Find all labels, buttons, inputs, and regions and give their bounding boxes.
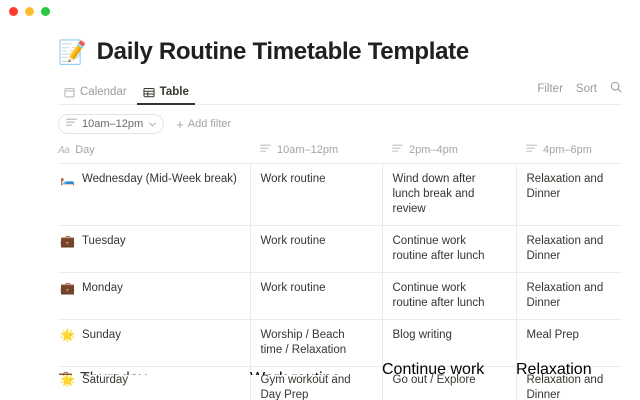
calendar-icon bbox=[64, 87, 75, 98]
column-header-2pm-4pm-label: 2pm–4pm bbox=[409, 144, 458, 156]
table-row[interactable]: 💼 Thursday Work routine Continue work ro… bbox=[58, 361, 622, 375]
table-row[interactable]: 💼MondayWork routineContinue work routine… bbox=[58, 273, 622, 320]
clipped-row-table: 💼 Thursday Work routine Continue work ro… bbox=[58, 361, 622, 375]
cell-4pm-6pm[interactable]: Relaxation and Dinner bbox=[516, 164, 622, 226]
table-row[interactable]: 💼TuesdayWork routineContinue work routin… bbox=[58, 226, 622, 273]
filter-button[interactable]: Filter bbox=[537, 83, 563, 95]
cell-4pm-6pm[interactable]: Relaxation and Dinner bbox=[516, 361, 622, 375]
add-filter-label: Add filter bbox=[188, 118, 231, 130]
column-header-4pm-6pm-label: 4pm–6pm bbox=[543, 144, 592, 156]
day-label: Thursday bbox=[80, 370, 147, 375]
cell-2pm-4pm[interactable]: Continue work routine after lunch bbox=[382, 273, 516, 320]
cell-2pm-4pm[interactable]: Continue work routine after lunch bbox=[382, 226, 516, 273]
cell-10am-12pm[interactable]: Work routine bbox=[250, 361, 382, 375]
filter-chip-label: 10am–12pm bbox=[82, 118, 143, 130]
tab-calendar[interactable]: Calendar bbox=[58, 86, 133, 104]
chevron-down-icon bbox=[149, 120, 156, 129]
close-button[interactable] bbox=[9, 7, 18, 16]
column-header-day[interactable]: Aa Day bbox=[58, 144, 250, 164]
filter-chip-10am-12pm[interactable]: 10am–12pm bbox=[58, 114, 164, 134]
column-header-2pm-4pm[interactable]: 2pm–4pm bbox=[382, 144, 516, 164]
cell-4pm-6pm[interactable]: Meal Prep bbox=[516, 320, 622, 367]
window-titlebar bbox=[0, 0, 640, 22]
add-filter-button[interactable]: + Add filter bbox=[176, 118, 231, 131]
day-label: Monday bbox=[82, 281, 123, 296]
day-emoji-icon: 💼 bbox=[60, 234, 75, 249]
table-row[interactable]: 🌟SundayWorship / Beach time / Relaxation… bbox=[58, 320, 622, 367]
briefcase-icon: 💼 bbox=[58, 370, 73, 375]
tab-table[interactable]: Table bbox=[137, 86, 195, 104]
day-cell[interactable]: 🌟Sunday bbox=[58, 320, 250, 367]
table-row[interactable]: 🛏️Wednesday (Mid-Week break)Work routine… bbox=[58, 164, 622, 226]
page-content: 📝 Daily Routine Timetable Template Calen… bbox=[0, 38, 640, 400]
cell-4pm-6pm[interactable]: Relaxation and Dinner bbox=[516, 226, 622, 273]
text-lines-icon bbox=[66, 118, 77, 130]
day-cell[interactable]: 💼Monday bbox=[58, 273, 250, 320]
tab-table-label: Table bbox=[160, 86, 189, 98]
cell-10am-12pm[interactable]: Work routine bbox=[250, 273, 382, 320]
maximize-button[interactable] bbox=[41, 7, 50, 16]
day-emoji-icon: 💼 bbox=[60, 281, 75, 296]
table-header: Aa Day bbox=[58, 144, 622, 164]
column-header-10am-12pm-label: 10am–12pm bbox=[277, 144, 338, 156]
filter-bar: 10am–12pm + Add filter bbox=[58, 114, 622, 134]
table-icon bbox=[143, 87, 155, 98]
page-header: 📝 Daily Routine Timetable Template bbox=[58, 38, 622, 66]
view-toolbar: Calendar Table Filter Sor bbox=[58, 79, 622, 105]
day-emoji-icon: 🛏️ bbox=[60, 172, 75, 187]
day-emoji-icon: 🌟 bbox=[60, 373, 75, 388]
cell-2pm-4pm[interactable]: Continue work routine after bbox=[382, 361, 516, 375]
column-header-day-label: Day bbox=[75, 144, 95, 156]
view-tabs: Calendar Table bbox=[58, 86, 195, 104]
view-toolbar-actions: Filter Sort bbox=[537, 80, 622, 104]
cell-2pm-4pm[interactable]: Blog writing bbox=[382, 320, 516, 367]
day-cell[interactable]: 💼Tuesday bbox=[58, 226, 250, 273]
text-lines-icon bbox=[260, 144, 271, 156]
day-emoji-icon: 🌟 bbox=[60, 328, 75, 343]
column-header-10am-12pm[interactable]: 10am–12pm bbox=[250, 144, 382, 164]
cell-10am-12pm[interactable]: Work routine bbox=[250, 226, 382, 273]
day-cell[interactable]: 🛏️Wednesday (Mid-Week break) bbox=[58, 164, 250, 226]
day-label: Sunday bbox=[82, 328, 121, 343]
minimize-button[interactable] bbox=[25, 7, 34, 16]
clipped-row-viewport: 💼 Thursday Work routine Continue work ro… bbox=[58, 361, 622, 375]
cell-10am-12pm[interactable]: Work routine bbox=[250, 164, 382, 226]
table-header-row: Aa Day bbox=[58, 144, 622, 164]
day-label: Saturday bbox=[82, 373, 128, 388]
day-label: Tuesday bbox=[82, 234, 126, 249]
day-cell[interactable]: 💼 Thursday bbox=[58, 361, 250, 375]
sort-button[interactable]: Sort bbox=[576, 83, 597, 95]
tab-calendar-label: Calendar bbox=[80, 86, 127, 98]
cell-10am-12pm[interactable]: Worship / Beach time / Relaxation bbox=[250, 320, 382, 367]
page-title[interactable]: Daily Routine Timetable Template bbox=[97, 38, 469, 66]
memo-icon[interactable]: 📝 bbox=[58, 41, 87, 64]
plus-icon: + bbox=[176, 118, 184, 131]
day-label: Wednesday (Mid-Week break) bbox=[82, 172, 237, 187]
cell-2pm-4pm[interactable]: Wind down after lunch break and review bbox=[382, 164, 516, 226]
search-icon[interactable] bbox=[610, 80, 622, 98]
text-lines-icon bbox=[392, 144, 403, 156]
title-text-icon: Aa bbox=[58, 145, 69, 156]
app-window: 📝 Daily Routine Timetable Template Calen… bbox=[0, 0, 640, 400]
text-lines-icon bbox=[526, 144, 537, 156]
cell-4pm-6pm[interactable]: Relaxation and Dinner bbox=[516, 273, 622, 320]
column-header-4pm-6pm[interactable]: 4pm–6pm bbox=[516, 144, 622, 164]
